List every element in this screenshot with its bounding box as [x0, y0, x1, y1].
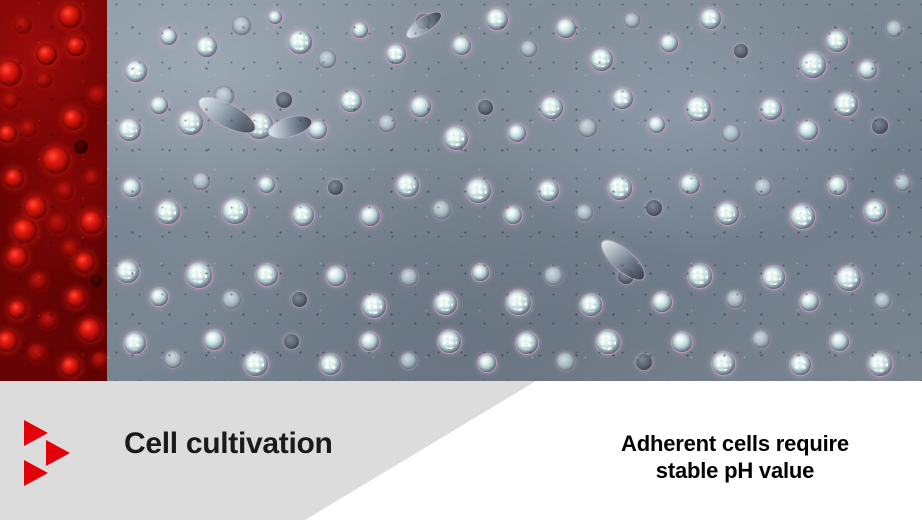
banner-headline: Adherent cells require stable pH value: [560, 430, 910, 484]
red-fluorescence-strip: [0, 0, 107, 381]
banner-headline-line-1: Adherent cells require: [560, 430, 910, 457]
triangle-middle-icon: [46, 440, 70, 466]
micrograph-debris-speckle: [0, 0, 922, 381]
page-root: Cell cultivation Adherent cells require …: [0, 0, 922, 520]
three-triangles-logo[interactable]: [24, 420, 86, 486]
red-strip-speckle: [0, 0, 107, 381]
triangle-top-icon: [24, 420, 48, 446]
banner-headline-line-2: stable pH value: [560, 457, 910, 484]
triangle-bottom-icon: [24, 460, 48, 486]
cell-culture-micrograph: [0, 0, 922, 381]
banner-title: Cell cultivation: [124, 427, 333, 461]
